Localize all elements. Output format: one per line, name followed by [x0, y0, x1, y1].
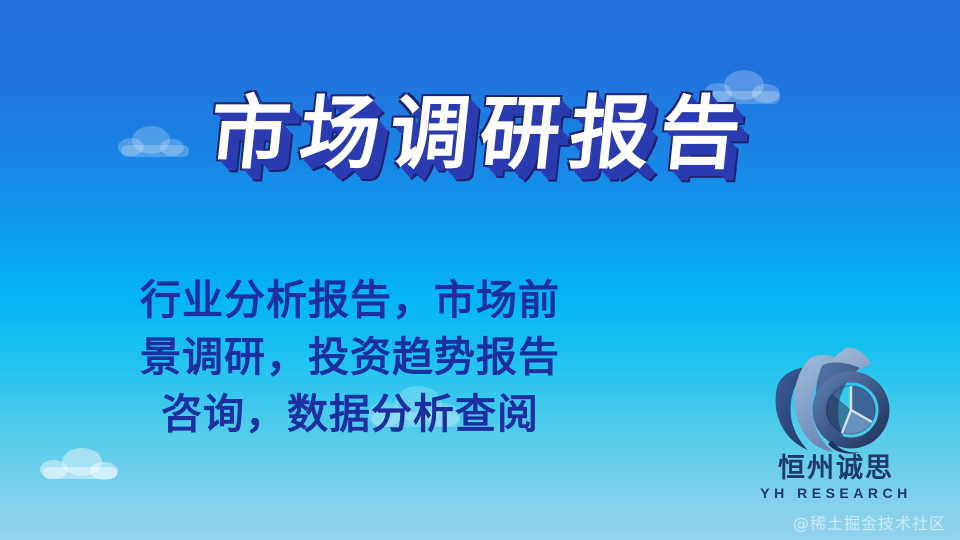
subtitle-line-2: 景调研，投资趋势报告	[40, 329, 660, 386]
watermark-text: @稀土掘金技术社区	[793, 510, 946, 534]
logo-leaf-pie-chart-icon	[748, 344, 924, 456]
subtitle-line-1: 行业分析报告，市场前	[40, 272, 660, 329]
logo-name-cn: 恒州诚思	[748, 454, 924, 484]
subtitle-line-3: 咨询，数据分析查阅	[40, 386, 660, 443]
cloud-icon-bottom-left	[40, 448, 120, 480]
poster-title: 市场调研报告	[0, 92, 960, 176]
poster-canvas: 市场调研报告 行业分析报告，市场前 景调研，投资趋势报告 咨询，数据分析查阅	[0, 0, 960, 540]
logo-name-en: YH RESEARCH	[748, 484, 924, 502]
poster-subtitle: 行业分析报告，市场前 景调研，投资趋势报告 咨询，数据分析查阅	[40, 272, 660, 443]
company-logo: 恒州诚思 YH RESEARCH	[748, 344, 924, 502]
